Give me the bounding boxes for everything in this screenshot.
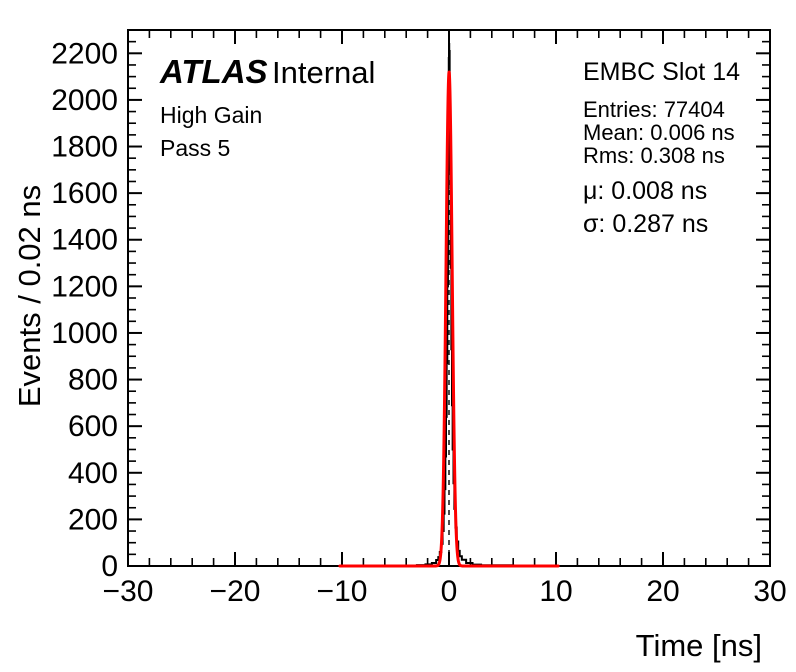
y-tick-label: 1400 bbox=[51, 224, 118, 257]
mean-label: Mean: 0.006 ns bbox=[583, 120, 735, 145]
y-tick-label: 0 bbox=[101, 550, 118, 583]
y-tick-label: 600 bbox=[68, 410, 118, 443]
atlas-collaboration-label: ATLAS bbox=[159, 53, 268, 90]
gain-label: High Gain bbox=[160, 102, 262, 128]
y-tick-label: 400 bbox=[68, 457, 118, 490]
plot-canvas: −30−20−100102030 02004006008001000120014… bbox=[0, 0, 796, 672]
x-tick-label: 30 bbox=[753, 575, 786, 608]
x-tick-label: −20 bbox=[210, 575, 261, 608]
y-tick-label: 200 bbox=[68, 503, 118, 536]
y-axis-title: Events / 0.02 ns bbox=[12, 185, 47, 407]
x-tick-label: 10 bbox=[539, 575, 572, 608]
y-tick-label: 1200 bbox=[51, 270, 118, 303]
x-axis-title: Time [ns] bbox=[636, 628, 762, 663]
pass-label: Pass 5 bbox=[160, 135, 230, 161]
histogram-plot: −30−20−100102030 02004006008001000120014… bbox=[0, 0, 796, 672]
rms-label: Rms: 0.308 ns bbox=[583, 143, 725, 168]
x-tick-label: 20 bbox=[646, 575, 679, 608]
x-tick-label: 0 bbox=[441, 575, 458, 608]
detector-slot-label: EMBC Slot 14 bbox=[583, 58, 740, 86]
y-tick-label: 1800 bbox=[51, 131, 118, 164]
y-tick-label: 2200 bbox=[51, 37, 118, 70]
y-tick-label: 2000 bbox=[51, 84, 118, 117]
entries-label: Entries: 77404 bbox=[583, 97, 725, 122]
y-tick-label: 1600 bbox=[51, 177, 118, 210]
y-tick-label: 1000 bbox=[51, 317, 118, 350]
atlas-status-label: Internal bbox=[272, 55, 375, 90]
fit-mu-label: μ: 0.008 ns bbox=[583, 177, 707, 205]
x-tick-label: −10 bbox=[317, 575, 368, 608]
fit-sigma-label: σ: 0.287 ns bbox=[583, 210, 708, 238]
y-tick-label: 800 bbox=[68, 364, 118, 397]
